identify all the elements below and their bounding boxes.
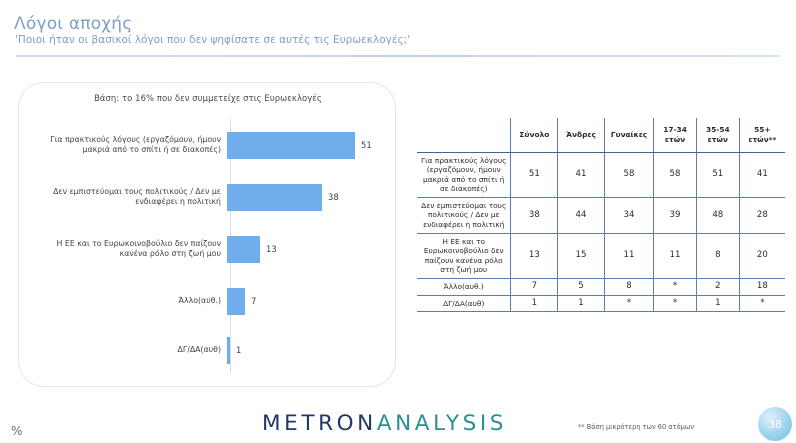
table-cell: 34 [604, 197, 653, 233]
table-cell: 58 [604, 152, 653, 197]
table-header-row: Σύνολο Άνδρες Γυναίκες 17-34 ετών 35-54 … [417, 118, 785, 152]
table-footnote: ** Βάση μικρότερη των 60 ατόμων [578, 423, 694, 431]
table-row-label: Για πρακτικούς λόγους (εργαζόμουν, ήμουν… [417, 152, 511, 197]
bar-label: Για πρακτικούς λόγους (εργαζόμουν, ήμουν… [27, 135, 227, 156]
bar-row: Δεν εμπιστεύομαι τους πολιτικούς / Δεν μ… [27, 171, 389, 223]
table-row: ΔΓ/ΔΑ(αυθ) 1 1 * * 1 * [417, 295, 785, 312]
table-cell: 8 [604, 279, 653, 296]
table-cell: 1 [558, 295, 605, 312]
bar-label: ΔΓ/ΔΑ(αυθ) [27, 345, 227, 356]
table-cell: 7 [511, 279, 558, 296]
bar-value-label: 38 [328, 192, 339, 202]
percent-unit-mark: % [11, 424, 22, 438]
results-table: Σύνολο Άνδρες Γυναίκες 17-34 ετών 35-54 … [417, 118, 785, 312]
table-corner-cell [417, 118, 511, 152]
table-cell: 5 [558, 279, 605, 296]
slide-header: Λόγοι αποχής 'Ποιοι ήταν οι βασικοί λόγο… [0, 0, 796, 56]
table-cell: 51 [696, 152, 739, 197]
bar-rect [227, 288, 245, 315]
metron-analysis-logo: METRONANALYSIS [262, 411, 507, 436]
table-cell: 8 [696, 233, 739, 278]
bar-chart: Για πρακτικούς λόγους (εργαζόμουν, ήμουν… [27, 115, 389, 377]
bar-value-label: 13 [266, 244, 277, 254]
bar-row: Για πρακτικούς λόγους (εργαζόμουν, ήμουν… [27, 119, 389, 171]
table-cell: 58 [654, 152, 697, 197]
table-cell: * [654, 279, 697, 296]
table-cell: 41 [739, 152, 785, 197]
slide: Λόγοι αποχής 'Ποιοι ήταν οι βασικοί λόγο… [0, 0, 796, 443]
chart-base-note: Βάση: το 16% που δεν συμμετείχε στις Ευρ… [19, 93, 397, 103]
table-cell: * [739, 295, 785, 312]
table-col-header: 35-54 ετών [696, 118, 739, 152]
table-cell: 1 [696, 295, 739, 312]
bar-track: 7 [227, 275, 389, 327]
bar-label: Δεν εμπιστεύομαι τους πολιτικούς / Δεν μ… [27, 187, 227, 208]
bar-row: ΔΓ/ΔΑ(αυθ) 1 [27, 327, 389, 373]
table-row: Για πρακτικούς λόγους (εργαζόμουν, ήμουν… [417, 152, 785, 197]
table-row-label: ΔΓ/ΔΑ(αυθ) [417, 295, 511, 312]
table-cell: 2 [696, 279, 739, 296]
bar-row: Η ΕΕ και το Ευρωκοινοβούλιο δεν παίζουν … [27, 223, 389, 275]
bar-label: Η ΕΕ και το Ευρωκοινοβούλιο δεν παίζουν … [27, 239, 227, 260]
bar-rect [227, 236, 260, 263]
table-cell: 11 [654, 233, 697, 278]
table-cell: 15 [558, 233, 605, 278]
table-col-header: 17-34 ετών [654, 118, 697, 152]
table-col-header: Γυναίκες [604, 118, 653, 152]
table-cell: 20 [739, 233, 785, 278]
table-cell: 48 [696, 197, 739, 233]
table-cell: * [604, 295, 653, 312]
table-row: Άλλο(αυθ.) 7 5 8 * 2 18 [417, 279, 785, 296]
bar-value-label: 7 [251, 296, 256, 306]
table-cell: 51 [511, 152, 558, 197]
table-row-label: Δεν εμπιστεύομαι τους πολιτικούς / Δεν μ… [417, 197, 511, 233]
table-col-header: Άνδρες [558, 118, 605, 152]
bar-value-label: 1 [236, 345, 241, 355]
bar-track: 38 [227, 171, 389, 223]
logo-metron-text: METRON [262, 411, 377, 436]
table-cell: 38 [511, 197, 558, 233]
table-cell: 28 [739, 197, 785, 233]
table-col-header: 55+ ετών** [739, 118, 785, 152]
table-cell: 13 [511, 233, 558, 278]
page-subtitle: 'Ποιοι ήταν οι βασικοί λόγοι που δεν ψηφ… [15, 34, 410, 46]
table-col-header: Σύνολο [511, 118, 558, 152]
table-row-label: Η ΕΕ και το Ευρωκοινοβούλιο δεν παίζουν … [417, 233, 511, 278]
bar-value-label: 51 [361, 140, 372, 150]
table-cell: 39 [654, 197, 697, 233]
table-cell: 1 [511, 295, 558, 312]
page-number-badge: 38 [758, 407, 792, 441]
table-row: Δεν εμπιστεύομαι τους πολιτικούς / Δεν μ… [417, 197, 785, 233]
bar-rect [227, 184, 322, 211]
table-cell: 18 [739, 279, 785, 296]
logo-analysis-text: ANALYSIS [377, 411, 507, 436]
table-cell: 41 [558, 152, 605, 197]
page-title: Λόγοι αποχής [14, 14, 132, 34]
bar-rect [227, 337, 230, 364]
table-cell: 44 [558, 197, 605, 233]
bar-track: 1 [227, 327, 389, 373]
bar-label: Άλλο(αυθ.) [27, 296, 227, 307]
header-divider [16, 55, 780, 57]
table-row: Η ΕΕ και το Ευρωκοινοβούλιο δεν παίζουν … [417, 233, 785, 278]
table-cell: * [654, 295, 697, 312]
bar-track: 51 [227, 119, 389, 171]
bar-row: Άλλο(αυθ.) 7 [27, 275, 389, 327]
chart-panel: Βάση: το 16% που δεν συμμετείχε στις Ευρ… [18, 82, 396, 387]
table-cell: 11 [604, 233, 653, 278]
table-row-label: Άλλο(αυθ.) [417, 279, 511, 296]
bar-track: 13 [227, 223, 389, 275]
bar-rect [227, 132, 355, 159]
